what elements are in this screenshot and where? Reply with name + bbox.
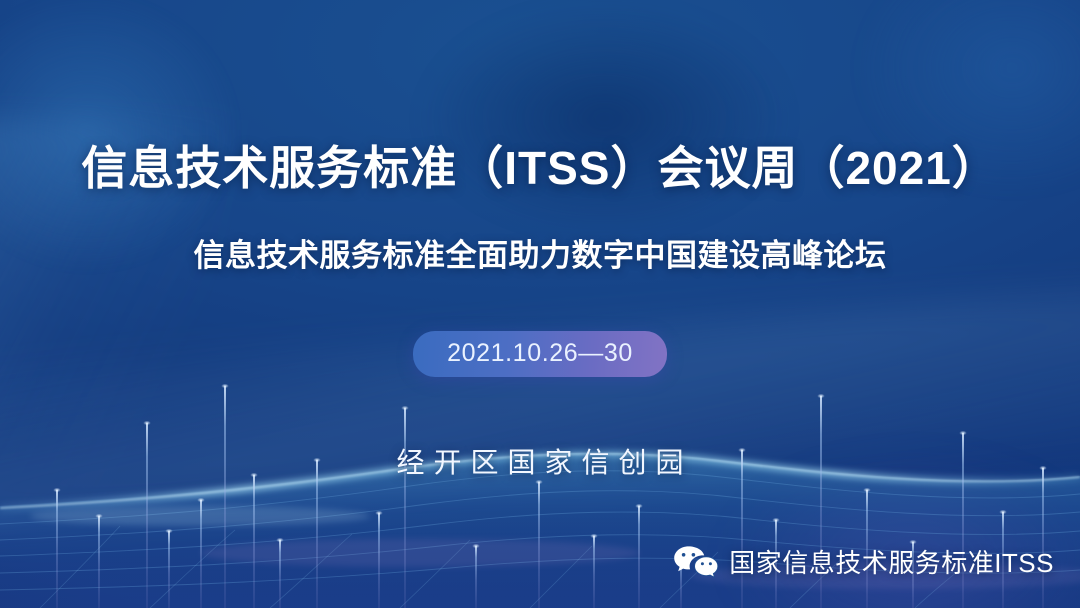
event-date-badge: 2021.10.26—30 (413, 331, 667, 377)
event-poster: 信息技术服务标准（ITSS）会议周（2021） 信息技术服务标准全面助力数字中国… (0, 0, 1080, 608)
poster-content: 信息技术服务标准（ITSS）会议周（2021） 信息技术服务标准全面助力数字中国… (0, 0, 1080, 608)
poster-subtitle: 信息技术服务标准全面助力数字中国建设高峰论坛 (0, 230, 1080, 275)
date-badge-container: 2021.10.26—30 (0, 331, 1080, 377)
watermark-label: 国家信息技术服务标准ITSS (729, 543, 1054, 580)
wechat-watermark: 国家信息技术服务标准ITSS (673, 543, 1054, 580)
event-venue: 经开区国家信创园 (0, 441, 1080, 481)
wechat-icon (673, 545, 719, 579)
poster-title: 信息技术服务标准（ITSS）会议周（2021） (0, 144, 1080, 194)
